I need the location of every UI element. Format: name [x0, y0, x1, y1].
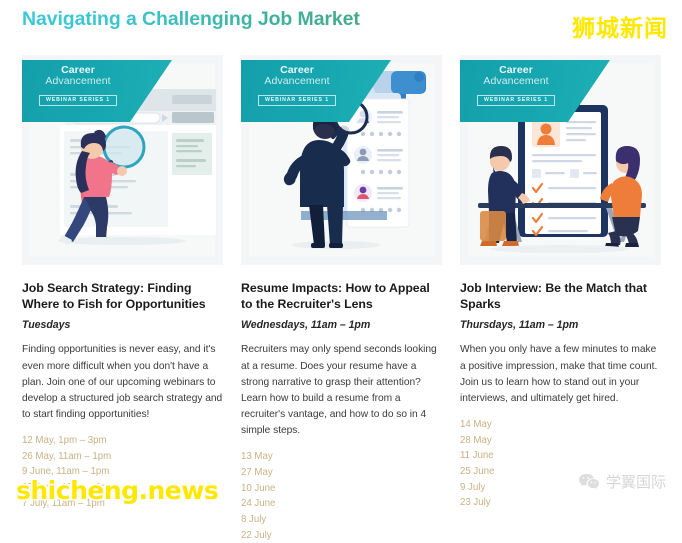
card-date: 25 June [460, 464, 661, 480]
ribbon-text: Career Advancement WEBINAR SERIES 1 [241, 65, 353, 106]
card-illustration: Career Advancement WEBINAR SERIES 1 [241, 55, 442, 265]
card-illustration: Career Advancement WEBINAR SERIES 1 [22, 55, 223, 265]
card-title: Job Interview: Be the Match that Sparks [460, 280, 661, 312]
card-date: 9 July [460, 480, 661, 496]
card-date: 14 May [460, 417, 661, 433]
webinar-card[interactable]: Career Advancement WEBINAR SERIES 1 Resu… [241, 55, 442, 543]
card-schedule: Thursdays, 11am – 1pm [460, 319, 661, 331]
card-date: 24 June [241, 496, 442, 512]
card-date: 7 July, 11am – 1pm [22, 496, 223, 512]
card-date: 22 July [241, 528, 442, 543]
ribbon-text: Career Advancement WEBINAR SERIES 1 [460, 65, 572, 106]
card-body: Recruiters may only spend seconds lookin… [241, 342, 442, 439]
webinar-card[interactable]: Career Advancement WEBINAR SERIES 1 Job … [460, 55, 661, 543]
card-date: 10 June [241, 481, 442, 497]
card-ribbon: Career Advancement WEBINAR SERIES 1 [460, 60, 610, 122]
card-date: 13 May [241, 449, 442, 465]
card-body: When you only have a few minutes to make… [460, 342, 661, 406]
card-title: Job Search Strategy: Finding Where to Fi… [22, 280, 223, 312]
card-body: Finding opportunities is never easy, and… [22, 342, 223, 423]
ribbon-line2: Advancement [460, 76, 572, 87]
card-title: Resume Impacts: How to Appeal to the Rec… [241, 280, 442, 312]
webinar-card[interactable]: Career Advancement WEBINAR SERIES 1 Job … [22, 55, 223, 543]
card-date: 23 June, 11am – 1pm [22, 480, 223, 496]
card-schedule: Tuesdays [22, 319, 223, 331]
card-date: 8 July [241, 512, 442, 528]
card-date: 26 May, 11am – 1pm [22, 449, 223, 465]
card-date-list: 12 May, 1pm – 3pm 26 May, 11am – 1pm 9 J… [22, 433, 223, 512]
card-date: 27 May [241, 465, 442, 481]
ribbon-line2: Advancement [241, 76, 353, 87]
page-title: Navigating a Challenging Job Market [22, 8, 360, 31]
ribbon-badge: WEBINAR SERIES 1 [39, 95, 117, 106]
card-date: 23 July [460, 495, 661, 511]
card-date: 12 May, 1pm – 3pm [22, 433, 223, 449]
card-date-list: 14 May 28 May 11 June 25 June 9 July 23 … [460, 417, 661, 511]
card-illustration: Career Advancement WEBINAR SERIES 1 [460, 55, 661, 265]
webinar-card-grid: Career Advancement WEBINAR SERIES 1 Job … [22, 55, 662, 543]
card-ribbon: Career Advancement WEBINAR SERIES 1 [22, 60, 172, 122]
ribbon-text: Career Advancement WEBINAR SERIES 1 [22, 65, 134, 106]
ribbon-badge: WEBINAR SERIES 1 [477, 95, 555, 106]
card-date: 11 June [460, 448, 661, 464]
ribbon-line2: Advancement [22, 76, 134, 87]
card-ribbon: Career Advancement WEBINAR SERIES 1 [241, 60, 391, 122]
ribbon-badge: WEBINAR SERIES 1 [258, 95, 336, 106]
card-date: 9 June, 11am – 1pm [22, 464, 223, 480]
card-schedule: Wednesdays, 11am – 1pm [241, 319, 442, 331]
card-date: 28 May [460, 433, 661, 449]
card-date-list: 13 May 27 May 10 June 24 June 8 July 22 … [241, 449, 442, 543]
watermark-top-right: 狮城新闻 [572, 9, 668, 43]
